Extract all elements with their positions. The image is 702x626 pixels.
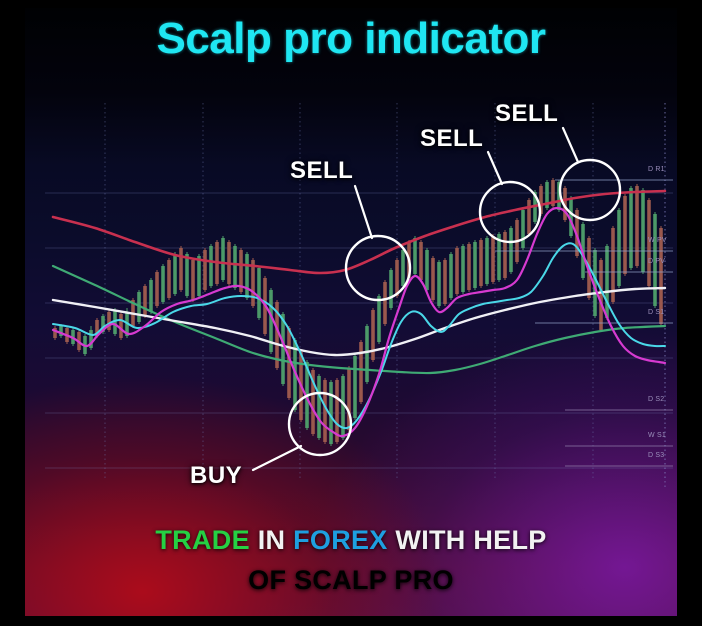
- tagline-segment-0: TRADE: [155, 525, 250, 555]
- annotation-label-buy-1: BUY: [190, 462, 242, 490]
- tagline-segment-1: IN: [250, 525, 293, 555]
- tagline-segment-2: FOREX: [293, 525, 388, 555]
- tagline-line-2: OF SCALP PRO: [0, 560, 702, 600]
- annotation-label-sell-3: SELL: [495, 100, 558, 128]
- annotation-label-sell-2: SELL: [420, 125, 483, 153]
- tagline-line-1: TRADE IN FOREX WITH HELP: [0, 520, 702, 560]
- tagline: TRADE IN FOREX WITH HELP OF SCALP PRO: [0, 520, 702, 600]
- tagline-segment-3: WITH HELP: [388, 525, 547, 555]
- promo-image-frame: D R1W PVD PVD S1D S2W S1D S3 SELLSELLSEL…: [0, 0, 702, 626]
- annotation-label-sell-1: SELL: [290, 157, 353, 185]
- page-title: Scalp pro indicator: [0, 14, 702, 64]
